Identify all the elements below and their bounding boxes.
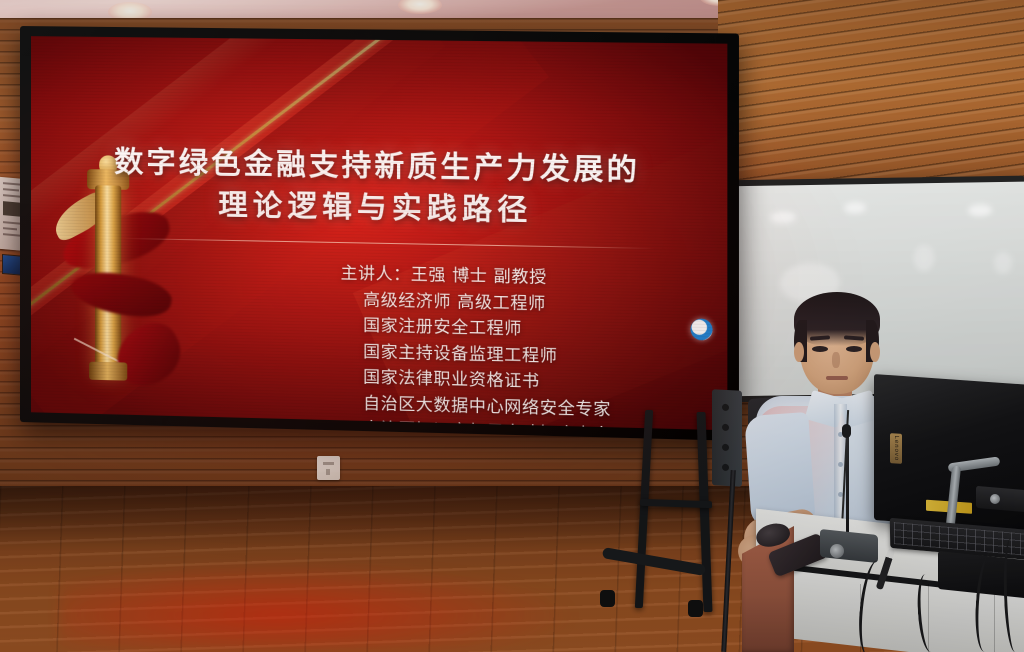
ear [794,342,804,362]
slide-title-line1: 数字绿色金融支持新质生产力发展的 [114,144,640,187]
floor-red-reflection [60,560,580,652]
slide-content: 数字绿色金融支持新质生产力发展的 理论逻辑与实践路径 主讲人：王强 博士 副教授… [31,36,727,430]
blue-circle-logo-icon [690,318,712,340]
lectern-desk[interactable]: Lenovo [742,498,1024,652]
caster-wheel-icon [688,600,703,617]
nose [832,352,840,368]
gooseneck-microphone-stem [846,432,849,536]
microphone-head-icon [842,424,851,438]
display-bezel: 数字绿色金融支持新质生产力发展的 理论逻辑与实践路径 主讲人：王强 博士 副教授… [20,26,739,441]
ear [870,342,880,362]
mouth [826,376,848,380]
presentation-display[interactable]: 数字绿色金融支持新质生产力发展的 理论逻辑与实践路径 主讲人：王强 博士 副教授… [0,0,760,460]
lecture-room-scene: 数字绿色金融支持新质生产力发展的 理论逻辑与实践路径 主讲人：王强 博士 副教授… [0,0,1024,652]
slide-divider [123,238,653,249]
microphone-jack-icon [830,544,844,558]
slide-title-line2: 理论逻辑与实践路径 [31,181,727,235]
display-mount-plate [712,389,742,487]
eye [812,346,828,352]
eye [846,346,862,352]
slide-credentials: 主讲人：王强 博士 副教授 高级经济师 高级工程师 国家注册安全工程师 国家主持… [363,261,706,431]
lenovo-logo-icon: Lenovo [890,433,902,464]
control-box[interactable] [976,486,1024,512]
slide-title: 数字绿色金融支持新质生产力发展的 理论逻辑与实践路径 [31,140,727,235]
caster-wheel-icon [600,590,615,607]
control-knob[interactable] [990,494,1000,504]
microphone-base[interactable] [820,529,878,563]
